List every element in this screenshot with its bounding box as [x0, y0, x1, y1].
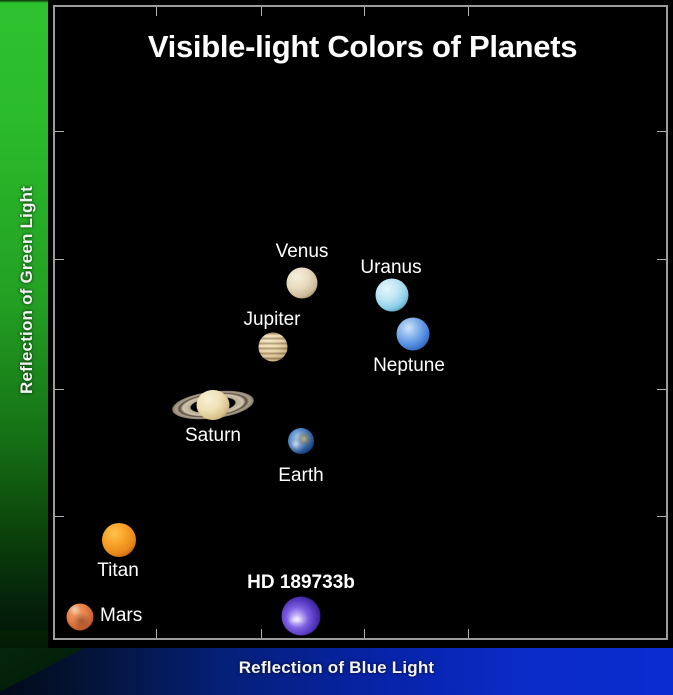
tick-bottom-2 [261, 629, 262, 638]
tick-right-1 [657, 131, 666, 132]
earth-label: Earth [278, 465, 323, 487]
tick-bottom-1 [156, 629, 157, 638]
jupiter-label: Jupiter [243, 309, 300, 331]
tick-top-1 [156, 7, 157, 16]
venus-label: Venus [276, 241, 329, 263]
neptune-planet-marker[interactable] [397, 318, 430, 351]
figure-canvas: Reflection of Green Light Reflection of … [0, 0, 673, 695]
mars-planet-marker[interactable] [67, 604, 94, 631]
mars-label: Mars [100, 605, 142, 627]
tick-left-3 [55, 389, 64, 390]
titan-planet-marker[interactable] [102, 523, 136, 557]
chart-title: Visible-light Colors of Planets [55, 29, 670, 65]
x-axis-title: Reflection of Blue Light [0, 658, 673, 678]
jupiter-planet-marker[interactable] [259, 333, 288, 362]
tick-bottom-4 [468, 629, 469, 638]
neptune-label: Neptune [373, 355, 445, 377]
y-axis-title: Reflection of Green Light [17, 170, 37, 410]
tick-left-2 [55, 259, 64, 260]
uranus-label: Uranus [360, 257, 421, 279]
titan-label: Titan [97, 560, 139, 582]
tick-left-4 [55, 516, 64, 517]
tick-top-2 [261, 7, 262, 16]
tick-right-3 [657, 389, 666, 390]
hd189733b-planet-marker[interactable] [282, 597, 321, 636]
uranus-planet-marker[interactable] [376, 279, 409, 312]
venus-planet-marker[interactable] [287, 268, 318, 299]
tick-bottom-3 [364, 629, 365, 638]
tick-top-3 [364, 7, 365, 16]
hd189733b-label: HD 189733b [247, 572, 355, 594]
saturn-label: Saturn [185, 425, 241, 447]
saturn-planet-marker[interactable] [197, 390, 230, 420]
earth-planet-marker[interactable] [288, 428, 314, 454]
tick-top-4 [468, 7, 469, 16]
tick-right-4 [657, 516, 666, 517]
tick-left-1 [55, 131, 64, 132]
plot-frame: Visible-light Colors of Planets Venus Ur… [53, 5, 668, 640]
tick-right-2 [657, 259, 666, 260]
